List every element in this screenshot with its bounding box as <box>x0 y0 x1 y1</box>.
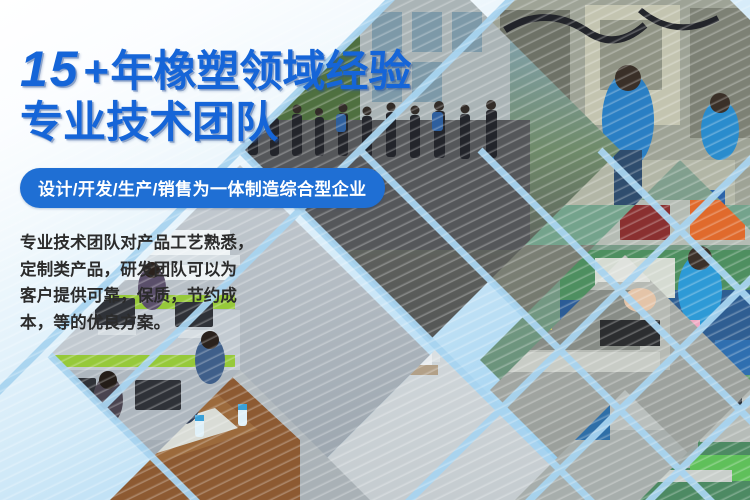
headline-line-1: 15+年橡塑领域经验 <box>20 44 450 95</box>
headline-line-2: 专业技术团队 <box>20 102 450 146</box>
body-line-2: 定制类产品，研发团队可以为 <box>20 257 288 284</box>
body-line-3: 客户提供可靠，保质，节约成 <box>20 283 288 310</box>
headline-line-1-text: 年橡塑领域经验 <box>110 48 411 96</box>
body-paragraph: 专业技术团队对产品工艺熟悉， 定制类产品，研发团队可以为 客户提供可靠，保质，节… <box>20 230 288 337</box>
company-capability-banner: 15+年橡塑领域经验 专业技术团队 设计/开发/生产/销售为一体制造综合型企业 … <box>0 0 750 500</box>
body-line-4: 本，等的优良方案。 <box>20 310 288 337</box>
business-scope-pill: 设计/开发/生产/销售为一体制造综合型企业 <box>20 168 385 208</box>
years-number: 15 <box>20 41 83 97</box>
body-line-1: 专业技术团队对产品工艺熟悉， <box>20 230 288 257</box>
headline-text-block: 15+年橡塑领域经验 专业技术团队 设计/开发/生产/销售为一体制造综合型企业 … <box>20 44 450 337</box>
plus-symbol: + <box>83 47 111 96</box>
